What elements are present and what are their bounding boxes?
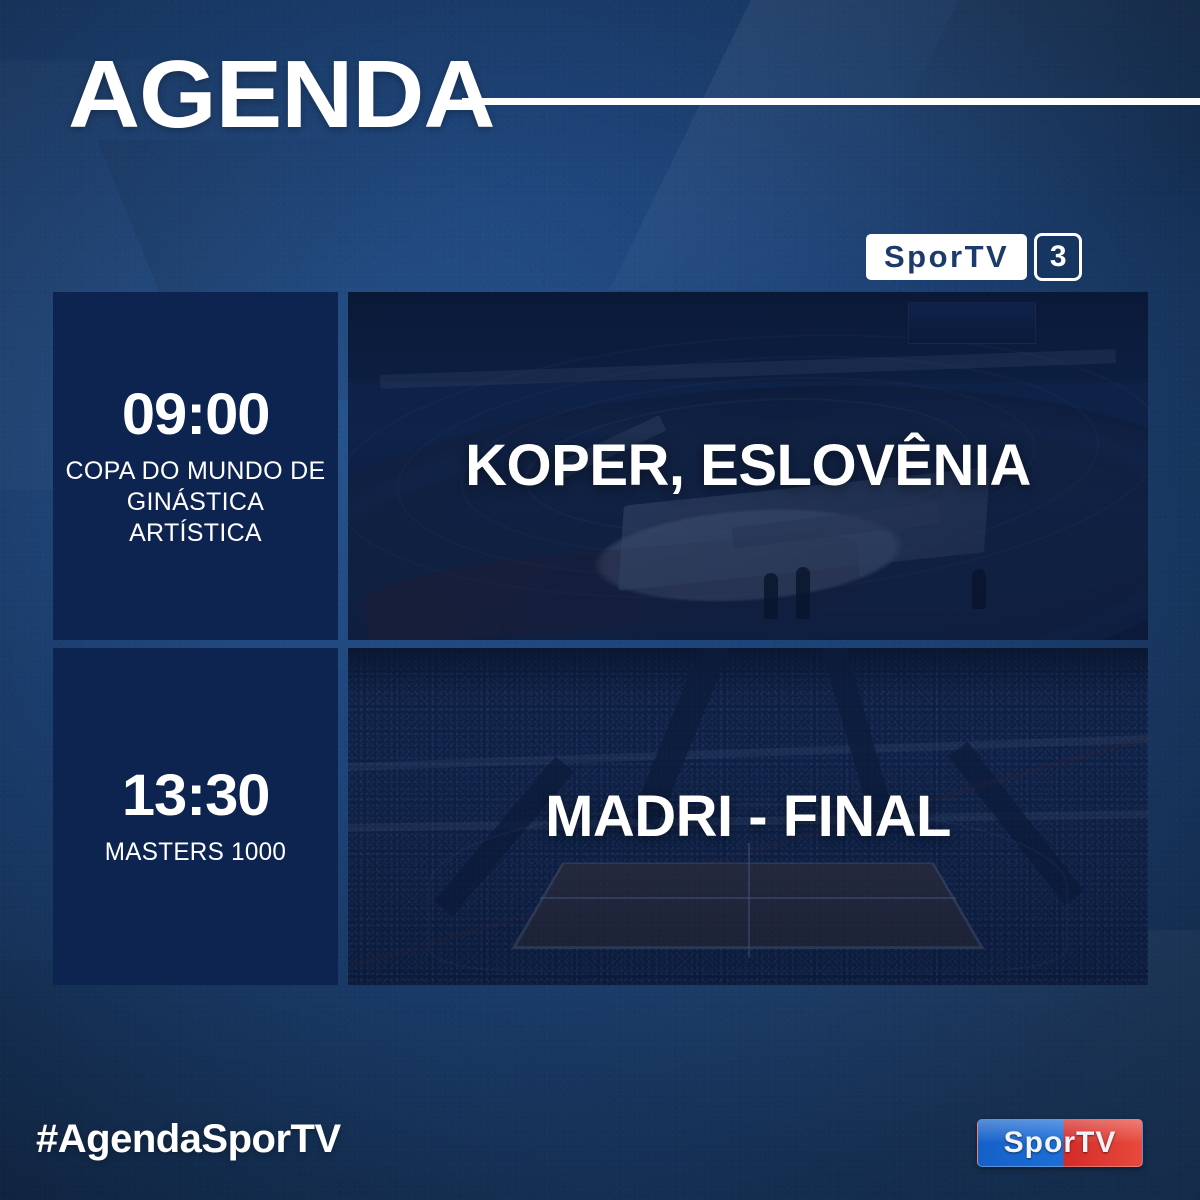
event-title: MASTERS 1000 [105,837,286,868]
channel-logo-sportv3: SporTV 3 [866,233,1082,281]
event-title-line2: GINÁSTICA ARTÍSTICA [65,487,326,549]
channel-logo-wordmark: SporTV [884,241,1009,272]
schedule-row-time-cell: 13:30 MASTERS 1000 [53,648,338,985]
event-location-caption: KOPER, ESLOVÊNIA [348,434,1148,498]
page-title: AGENDA [68,42,494,147]
event-time: 13:30 [122,765,270,827]
event-title-line1: MASTERS 1000 [105,837,286,868]
channel-number-badge: 3 [1034,233,1082,281]
event-time: 09:00 [122,384,270,446]
channel-logo-plate: SporTV [866,234,1027,280]
schedule-row-media-cell: MADRI - FINAL [348,648,1148,985]
schedule-row-media-cell: KOPER, ESLOVÊNIA [348,292,1148,640]
footer-logo-wordmark: SporTV [1004,1128,1117,1158]
hashtag-label: #AgendaSporTV [36,1116,341,1162]
header: AGENDA [0,42,1200,152]
footer-logo-sportv: SporTV [977,1119,1143,1167]
title-divider-rule [462,98,1200,105]
event-title-line1: COPA DO MUNDO DE [65,456,326,487]
event-title: COPA DO MUNDO DE GINÁSTICA ARTÍSTICA [65,456,326,549]
event-location-caption: MADRI - FINAL [348,785,1148,849]
schedule-grid: 09:00 COPA DO MUNDO DE GINÁSTICA ARTÍSTI… [53,292,1148,985]
schedule-row-time-cell: 09:00 COPA DO MUNDO DE GINÁSTICA ARTÍSTI… [53,292,338,640]
